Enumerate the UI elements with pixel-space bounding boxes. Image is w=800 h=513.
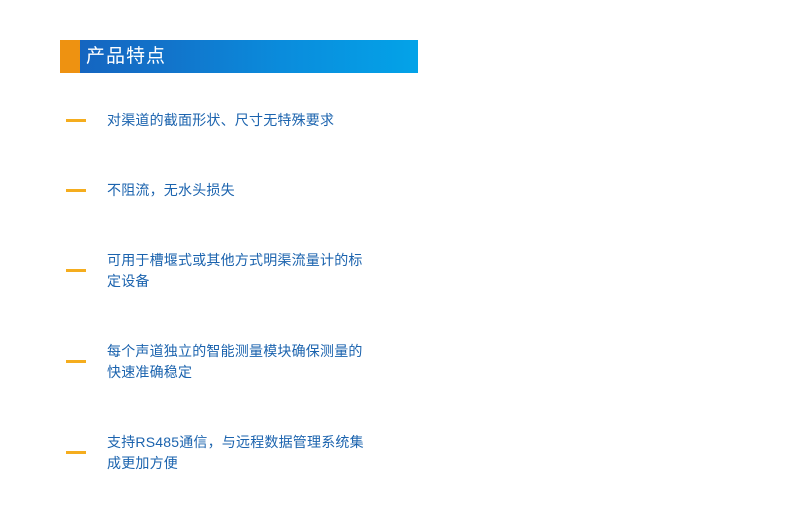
- list-item: 支持RS485通信，与远程数据管理系统集成更加方便: [66, 422, 376, 474]
- feature-text: 对渠道的截面形状、尺寸无特殊要求: [107, 100, 376, 131]
- list-item: 不阻流，无水头损失: [66, 170, 376, 201]
- page-title: 产品特点: [80, 47, 166, 66]
- dash-bullet-icon: [66, 269, 86, 272]
- feature-text: 不阻流，无水头损失: [107, 170, 376, 201]
- dash-bullet-icon: [66, 189, 86, 192]
- list-item: 可用于槽堰式或其他方式明渠流量计的标定设备: [66, 240, 376, 292]
- list-item: 对渠道的截面形状、尺寸无特殊要求: [66, 100, 376, 131]
- section-header-banner: 产品特点: [60, 40, 418, 73]
- feature-text: 可用于槽堰式或其他方式明渠流量计的标定设备: [107, 240, 376, 292]
- header-gradient-bar: 产品特点: [80, 40, 418, 73]
- header-accent-block: [60, 40, 80, 73]
- feature-list-container: 对渠道的截面形状、尺寸无特殊要求 不阻流，无水头损失 可用于槽堰式或其他方式明渠…: [0, 100, 800, 513]
- dash-bullet-icon: [66, 360, 86, 363]
- feature-text: 每个声道独立的智能测量模块确保测量的快速准确稳定: [107, 331, 376, 383]
- dash-bullet-icon: [66, 119, 86, 122]
- feature-text: 支持RS485通信，与远程数据管理系统集成更加方便: [107, 422, 376, 474]
- feature-column-right: 渠道的截面较大时采用多声道测速，实现高精度测量 可测量正、反两个方向的流量和流速…: [400, 100, 800, 513]
- dash-bullet-icon: [66, 451, 86, 454]
- list-item: 每个声道独立的智能测量模块确保测量的快速准确稳定: [66, 331, 376, 383]
- feature-column-left: 对渠道的截面形状、尺寸无特殊要求 不阻流，无水头损失 可用于槽堰式或其他方式明渠…: [0, 100, 400, 513]
